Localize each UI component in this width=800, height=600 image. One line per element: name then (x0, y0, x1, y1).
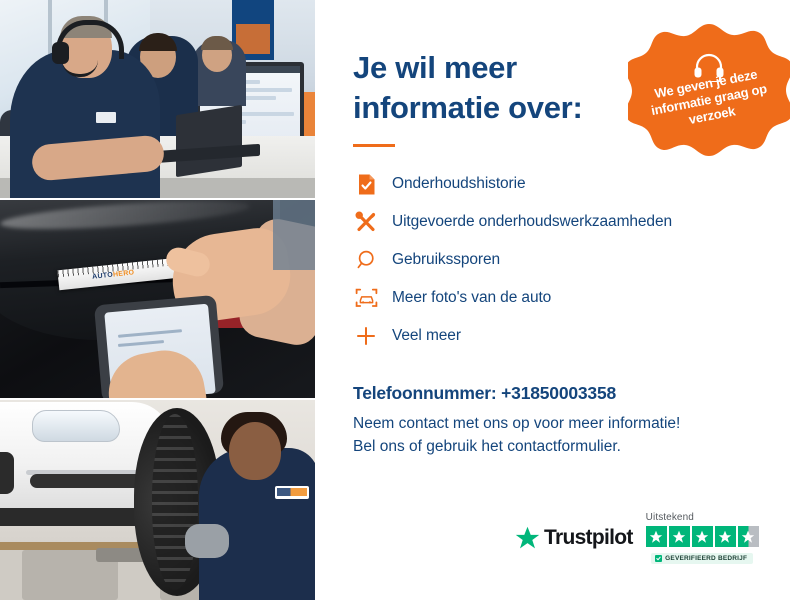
car-inspection-ruler-photo: AUTOHERO (0, 200, 315, 398)
car-photo-focus-icon (353, 287, 379, 309)
ruler-brand-secondary: HERO (113, 269, 135, 278)
page-title: Je wil meer informatie over: (353, 48, 643, 127)
list-item: Uitgevoerde onderhoudswerkzaamheden (353, 203, 760, 241)
phone-number[interactable]: Telefoonnummer: +31850003358 (353, 383, 760, 404)
contact-line-1: Neem contact met ons op voor meer inform… (353, 413, 760, 435)
list-item-label: Onderhoudshistorie (392, 175, 525, 193)
promo-page: AUTOHERO (0, 0, 800, 600)
star-icon (669, 526, 690, 547)
feature-list: Onderhoudshistorie Uitgevoerde onderhoud… (353, 165, 760, 355)
contact-line-2: Bel ons of gebruik het contactformulier. (353, 436, 760, 458)
call-center-agents-photo (0, 0, 315, 198)
photo-column: AUTOHERO (0, 0, 315, 600)
list-item: Veel meer (353, 317, 760, 355)
star-icon (692, 526, 713, 547)
promo-badge: We geven je deze informatie graag op ver… (628, 22, 790, 172)
title-divider (353, 144, 395, 147)
plus-icon (353, 325, 379, 347)
check-icon (655, 555, 662, 562)
mechanic-wheel-photo (0, 400, 315, 600)
list-item-label: Meer foto's van de auto (392, 289, 551, 307)
list-item-label: Veel meer (392, 327, 461, 345)
verified-business-label: GEVERIFIEERD BEDRIJF (665, 555, 747, 562)
trustpilot-widget[interactable]: Trustpilot Uitstekend (515, 512, 759, 564)
trustpilot-logo: Trustpilot (515, 526, 633, 550)
list-item: Gebruikssporen (353, 241, 760, 279)
star-icon (646, 526, 667, 547)
list-item-label: Uitgevoerde onderhoudswerkzaamheden (392, 213, 672, 231)
content-panel: Je wil meer informatie over: Onderhoudsh… (315, 0, 800, 600)
ruler-brand-primary: AUTO (92, 272, 114, 281)
tools-cross-icon (353, 210, 379, 234)
document-check-icon (353, 173, 379, 196)
magnifier-icon (353, 249, 379, 271)
list-item: Meer foto's van de auto (353, 279, 760, 317)
star-icon-half (738, 526, 759, 547)
star-icon (715, 526, 736, 547)
star-rating (646, 526, 759, 547)
verified-business-badge: GEVERIFIEERD BEDRIJF (651, 553, 753, 564)
rating-label: Uitstekend (646, 512, 694, 523)
trustpilot-wordmark: Trustpilot (544, 526, 633, 550)
list-item-label: Gebruikssporen (392, 251, 500, 269)
trustpilot-star-icon (515, 526, 540, 550)
